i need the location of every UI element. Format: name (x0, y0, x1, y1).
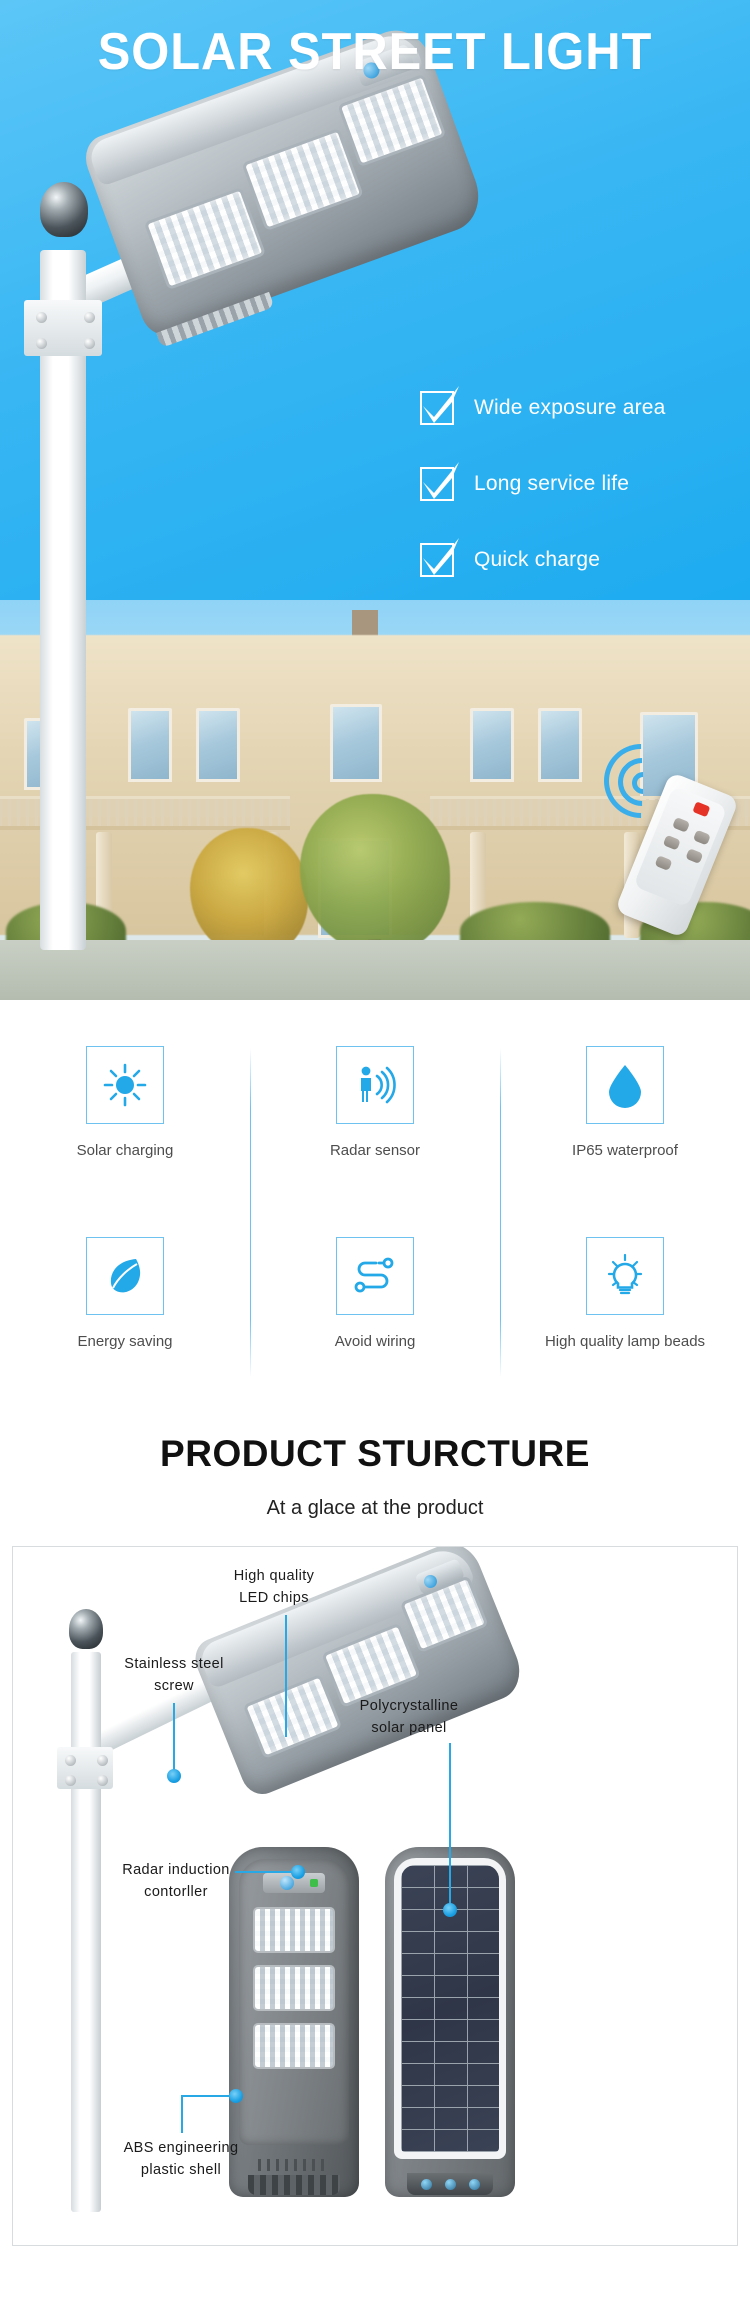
leader-line (285, 1615, 287, 1737)
callout-radar-controller: Radar induction contorller (101, 1859, 251, 1904)
feature-label: Radar sensor (330, 1142, 420, 1159)
section-subtitle: At a glace at the product (0, 1497, 750, 1520)
leader-dot (167, 1769, 181, 1783)
water-drop-icon (603, 1062, 647, 1108)
bracket-bolt (36, 338, 47, 349)
bracket-bolt (65, 1775, 76, 1786)
icon-frame (586, 1046, 664, 1124)
window (128, 708, 172, 782)
callout-abs-shell: ABS engineering plastic shell (101, 2137, 261, 2182)
bracket-bolt (36, 312, 47, 323)
remote-button (654, 855, 672, 871)
feature-item-ip65-waterproof: IP65 waterproof (500, 1028, 750, 1213)
check-icon (418, 534, 464, 580)
leader-line (181, 2095, 235, 2097)
feature-item-energy-saving: Energy saving (0, 1219, 250, 1404)
sensor-eye-icon (422, 1573, 439, 1590)
leader-line (235, 1871, 297, 1873)
front-housing-inner (239, 1859, 349, 2145)
feature-label: Avoid wiring (335, 1333, 416, 1350)
checklist-item: Long service life (420, 464, 666, 504)
section-title: PRODUCT STURCTURE (0, 1433, 750, 1475)
check-icon (418, 458, 464, 504)
base-bolt (421, 2179, 432, 2190)
column-divider (500, 1048, 501, 1378)
window (470, 708, 514, 782)
feature-label: Energy saving (77, 1333, 172, 1350)
radar-person-icon (352, 1062, 398, 1108)
tree-canopy (190, 828, 308, 958)
icon-frame (86, 1237, 164, 1315)
window (538, 708, 582, 782)
light-bulb-icon (602, 1253, 648, 1299)
leader-dot (443, 1903, 457, 1917)
column-divider (250, 1048, 251, 1378)
icon-frame (336, 1046, 414, 1124)
bracket-bolt (84, 312, 95, 323)
leader-dot (229, 2089, 243, 2103)
feature-label: Solar charging (77, 1142, 174, 1159)
feature-grid: Solar charging Radar sensor (0, 1028, 750, 1404)
leaf-icon (102, 1253, 148, 1299)
sun-icon (102, 1062, 148, 1108)
diagram-light-pole (71, 1652, 101, 2212)
icon-frame (336, 1237, 414, 1315)
feature-item-lamp-beads: High quality lamp beads (500, 1219, 750, 1404)
check-icon (418, 382, 464, 428)
base-bolt (445, 2179, 456, 2190)
diagram-pole-cap-ball (69, 1609, 103, 1649)
product-base (407, 2173, 493, 2195)
callout-solar-panel: Polycrystalline solar panel (329, 1695, 489, 1740)
product-structure-section: PRODUCT STURCTURE At a glace at the prod… (0, 1433, 750, 2246)
leader-line (181, 2095, 183, 2133)
checkbox-outline (420, 391, 454, 425)
icon-frame (86, 1046, 164, 1124)
bracket-bolt (84, 338, 95, 349)
base-bolt (469, 2179, 480, 2190)
callout-stainless-screw: Stainless steel screw (99, 1653, 249, 1698)
checklist-label: Long service life (474, 472, 629, 496)
checklist-label: Wide exposure area (474, 396, 666, 420)
checkbox-outline (420, 543, 454, 577)
structure-diagram: High quality LED chips Stainless steel s… (12, 1546, 738, 2246)
icon-frame (586, 1237, 664, 1315)
remote-button (685, 848, 703, 864)
feature-checklist: Wide exposure area Long service life Qui… (420, 388, 666, 616)
feature-label: IP65 waterproof (572, 1142, 678, 1159)
feature-icons-section: Solar charging Radar sensor (0, 1000, 750, 1415)
pole-cap-ball (40, 182, 88, 237)
tree-canopy (300, 794, 450, 954)
led-panel (253, 1907, 335, 1953)
sensor-eye-icon (280, 1876, 294, 1890)
page-title: SOLAR STREET LIGHT (23, 22, 728, 82)
remote-button (663, 835, 681, 851)
window (330, 704, 382, 782)
feature-item-avoid-wiring: Avoid wiring (250, 1219, 500, 1404)
leader-line (173, 1703, 175, 1775)
ground (0, 940, 750, 1000)
leader-dot (291, 1865, 305, 1879)
callout-led-chips: High quality LED chips (209, 1565, 339, 1610)
tree (300, 794, 450, 954)
leader-line (449, 1743, 451, 1909)
wiring-path-icon (351, 1254, 399, 1298)
bracket-bolt (97, 1755, 108, 1766)
remote-button (672, 817, 690, 833)
remote-button (693, 830, 711, 846)
indicator-led-icon (310, 1879, 318, 1887)
led-panel (253, 2023, 335, 2069)
hero-banner: SOLAR STREET LIGHT (0, 0, 750, 1000)
checklist-item: Wide exposure area (420, 388, 666, 428)
checklist-label: Quick charge (474, 548, 600, 572)
feature-item-solar-charging: Solar charging (0, 1028, 250, 1213)
led-panel (253, 1965, 335, 2011)
window (196, 708, 240, 782)
bracket-bolt (65, 1755, 76, 1766)
checkbox-outline (420, 467, 454, 501)
tree (190, 828, 308, 958)
feature-label: High quality lamp beads (545, 1333, 705, 1350)
bracket-bolt (97, 1775, 108, 1786)
product-base (248, 2175, 340, 2195)
vent-slots (258, 2159, 330, 2171)
diagram-canvas: High quality LED chips Stainless steel s… (13, 1547, 737, 2245)
feature-item-radar-sensor: Radar sensor (250, 1028, 500, 1213)
power-button-icon (692, 801, 710, 817)
checklist-item: Quick charge (420, 540, 666, 580)
